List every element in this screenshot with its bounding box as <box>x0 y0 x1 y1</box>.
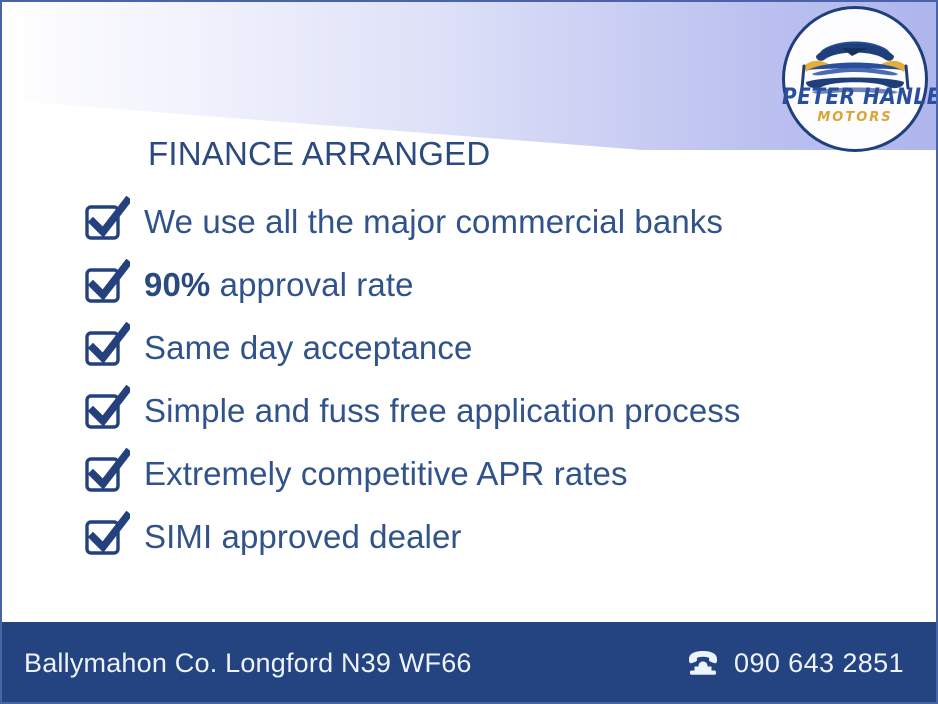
telephone-icon <box>686 650 720 676</box>
checkbox-checked-icon <box>82 196 130 244</box>
checkbox-checked-icon <box>82 511 130 559</box>
list-item: We use all the major commercial banks <box>82 190 902 253</box>
list-item-label: 90% approval rate <box>144 268 414 301</box>
page-title: FINANCE ARRANGED <box>148 135 490 173</box>
checkbox-checked-icon <box>82 385 130 433</box>
list-item: SIMI approved dealer <box>82 505 902 568</box>
advert-canvas: PETER HANLEY MOTORS FINANCE ARRANGED We … <box>0 0 938 704</box>
list-item: 90% approval rate <box>82 253 902 316</box>
list-item: Same day acceptance <box>82 316 902 379</box>
footer-phone-number: 090 643 2851 <box>734 648 904 679</box>
footer-bar: Ballymahon Co. Longford N39 WF66 090 643… <box>0 622 938 704</box>
brand-logo: PETER HANLEY MOTORS <box>782 6 928 152</box>
list-item-emphasis: 90% <box>144 266 210 303</box>
checkbox-checked-icon <box>82 322 130 370</box>
footer-phone-group[interactable]: 090 643 2851 <box>686 648 904 679</box>
checkbox-checked-icon <box>82 448 130 496</box>
list-item: Simple and fuss free application process <box>82 379 902 442</box>
footer-address: Ballymahon Co. Longford N39 WF66 <box>24 648 472 679</box>
list-item-label: Simple and fuss free application process <box>144 394 741 427</box>
list-item-label: Extremely competitive APR rates <box>144 457 628 490</box>
list-item-label: We use all the major commercial banks <box>144 205 723 238</box>
logo-brand-subtitle: MOTORS <box>782 110 928 125</box>
list-item: Extremely competitive APR rates <box>82 442 902 505</box>
feature-list: We use all the major commercial banks 90… <box>82 190 902 568</box>
car-front-icon <box>782 6 928 152</box>
checkbox-checked-icon <box>82 259 130 307</box>
list-item-label: SIMI approved dealer <box>144 520 462 553</box>
logo-brand-name: PETER HANLEY <box>782 83 928 110</box>
list-item-label: Same day acceptance <box>144 331 472 364</box>
list-item-label-rest: approval rate <box>210 266 413 303</box>
